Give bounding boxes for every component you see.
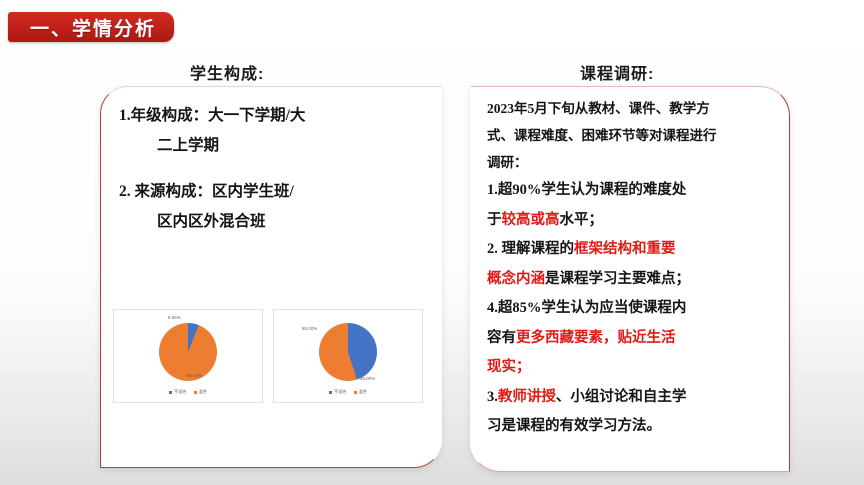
survey-finding-line-8: 3.教师讲授、小组讨论和自主学 bbox=[487, 383, 775, 413]
finding-highlight: 框架结构和重要 bbox=[574, 241, 676, 257]
finding-text: 4.超85%学生认为应当使课程内 bbox=[487, 300, 686, 316]
survey-finding-line-6: 容有更多西藏要素，贴近生活 bbox=[487, 324, 775, 354]
pie-chart-grade-composition: 6.06% 93.94% 不混合 混合 bbox=[113, 309, 263, 403]
pie-2-legend-label-1: 混合 bbox=[359, 389, 367, 395]
legend-swatch-orange-icon bbox=[354, 391, 357, 394]
pie-2-legend-item-0: 不混合 bbox=[329, 389, 347, 395]
finding-highlight: 概念内涵 bbox=[487, 271, 545, 287]
slide-canvas: 一、学情分析 学生构成: 课程调研: 1.年级构成：大一下学期/大 二上学期 2… bbox=[0, 0, 864, 485]
finding-text: 3. bbox=[487, 389, 498, 405]
text-spacer bbox=[119, 161, 419, 177]
survey-findings-list: 1.超90%学生认为课程的难度处于较高或高水平；2. 理解课程的框架结构和重要概… bbox=[487, 176, 775, 442]
legend-swatch-blue-icon bbox=[329, 391, 332, 394]
right-section-heading: 课程调研: bbox=[580, 60, 654, 84]
finding-highlight: 教师讲授 bbox=[498, 389, 556, 405]
pie-charts-container: 6.06% 93.94% 不混合 混合 55.00% bbox=[113, 309, 423, 403]
pie-1-legend-label-0: 不混合 bbox=[174, 389, 187, 395]
survey-finding-line-7: 现实； bbox=[487, 353, 775, 383]
finding-highlight: 现实； bbox=[487, 359, 531, 375]
survey-finding-line-4: 概念内涵是课程学习主要难点； bbox=[487, 265, 775, 295]
survey-finding-line-5: 4.超85%学生认为应当使课程内 bbox=[487, 294, 775, 324]
section-title-text: 一、学情分析 bbox=[30, 14, 156, 41]
legend-swatch-blue-icon bbox=[169, 391, 172, 394]
finding-highlight: 更多西藏要素，贴近生活 bbox=[516, 330, 676, 346]
legend-swatch-orange-icon bbox=[194, 391, 197, 394]
survey-finding-line-1: 1.超90%学生认为课程的难度处 bbox=[487, 176, 775, 206]
survey-intro-line-1: 2023年5月下旬从教材、课件、教学方 bbox=[487, 95, 775, 122]
pie-1-label-b: 93.94% bbox=[187, 373, 202, 378]
finding-text: 、小组讨论和自主学 bbox=[556, 389, 687, 405]
pie-2-legend-item-1: 混合 bbox=[354, 389, 367, 395]
student-composition-panel: 1.年级构成：大一下学期/大 二上学期 2. 来源构成：区内学生班/ 区内区外混… bbox=[100, 86, 442, 468]
pie-2-wrap bbox=[274, 323, 422, 381]
composition-line-1: 1.年级构成：大一下学期/大 bbox=[119, 101, 419, 131]
pie-1-legend: 不混合 混合 bbox=[114, 389, 262, 395]
pie-1-legend-label-1: 混合 bbox=[199, 389, 207, 395]
finding-text: 于 bbox=[487, 212, 502, 228]
pie-chart-source-composition: 55.00% 45.00% 不混合 混合 bbox=[273, 309, 423, 403]
left-section-heading: 学生构成: bbox=[190, 60, 264, 84]
finding-text: 容有 bbox=[487, 330, 516, 346]
pie-2-legend-label-0: 不混合 bbox=[334, 389, 347, 395]
finding-text: 水平； bbox=[560, 212, 604, 228]
survey-finding-line-2: 于较高或高水平； bbox=[487, 206, 775, 236]
finding-text: 习是课程的有效学习方法。 bbox=[487, 418, 661, 434]
composition-line-2: 二上学期 bbox=[119, 131, 419, 161]
pie-2-label-b: 45.00% bbox=[360, 376, 375, 381]
finding-text: 2. 理解课程的 bbox=[487, 241, 574, 257]
pie-1-label-a: 6.06% bbox=[168, 315, 181, 320]
finding-highlight: 较高或高 bbox=[502, 212, 560, 228]
section-title-banner: 一、学情分析 bbox=[8, 12, 174, 42]
finding-text: 1.超90%学生认为课程的难度处 bbox=[487, 182, 686, 198]
pie-1-legend-item-1: 混合 bbox=[194, 389, 207, 395]
survey-intro-line-3: 调研： bbox=[487, 149, 775, 176]
course-survey-text: 2023年5月下旬从教材、课件、教学方 式、课程难度、困难环节等对课程进行 调研… bbox=[487, 95, 775, 442]
pie-2-graphic bbox=[319, 323, 377, 381]
student-composition-text: 1.年级构成：大一下学期/大 二上学期 2. 来源构成：区内学生班/ 区内区外混… bbox=[119, 101, 419, 237]
composition-line-4: 区内区外混合班 bbox=[119, 207, 419, 237]
pie-2-label-a: 55.00% bbox=[302, 326, 317, 331]
finding-text: 是课程学习主要难点； bbox=[545, 271, 690, 287]
survey-intro-line-2: 式、课程难度、困难环节等对课程进行 bbox=[487, 122, 775, 149]
pie-1-legend-item-0: 不混合 bbox=[169, 389, 187, 395]
composition-line-3: 2. 来源构成：区内学生班/ bbox=[119, 177, 419, 207]
course-survey-panel: 2023年5月下旬从教材、课件、教学方 式、课程难度、困难环节等对课程进行 调研… bbox=[470, 86, 790, 472]
pie-2-legend: 不混合 混合 bbox=[274, 389, 422, 395]
survey-finding-line-3: 2. 理解课程的框架结构和重要 bbox=[487, 235, 775, 265]
survey-finding-line-9: 习是课程的有效学习方法。 bbox=[487, 412, 775, 442]
